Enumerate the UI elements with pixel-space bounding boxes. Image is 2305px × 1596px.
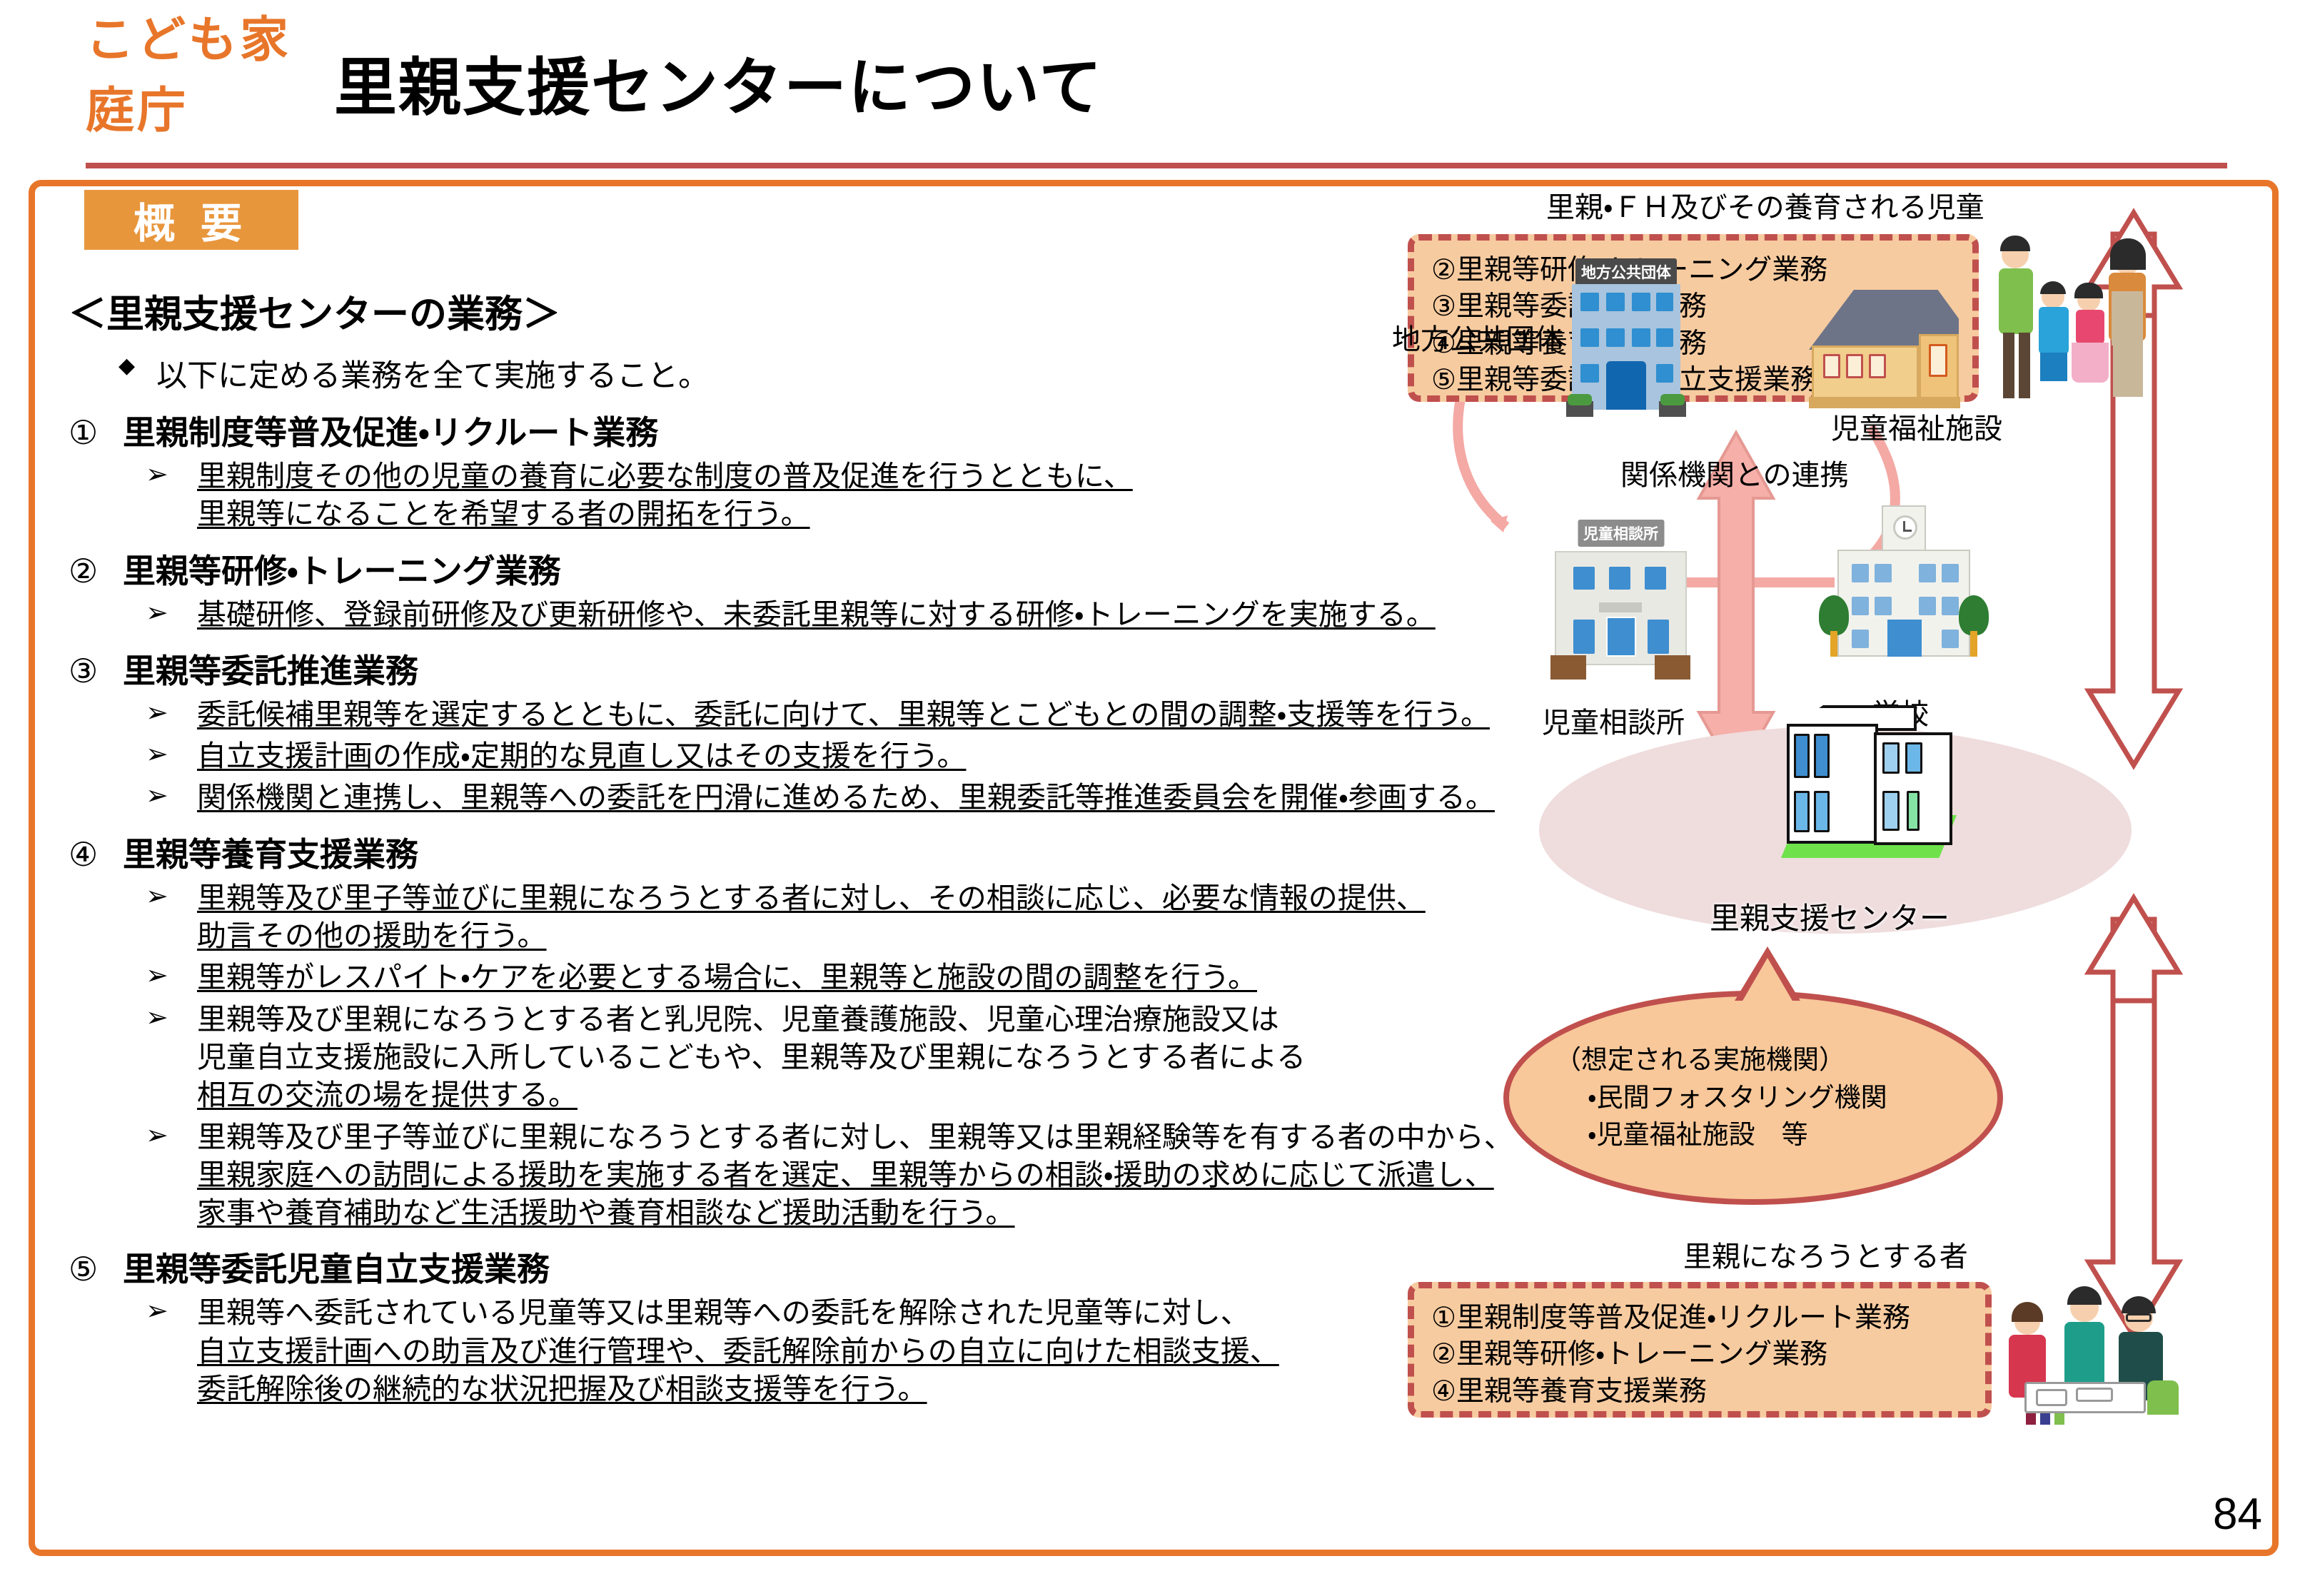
item-heading: ① 里親制度等普及促進・リクルート業務 (69, 407, 1468, 454)
bullet-line: 里親等へ委託されている児童等又は里親等への委託を解除された児童等に対し、 (197, 1296, 1250, 1329)
child-consultation-center-label: 児童相談所 (1542, 699, 1685, 741)
bullet-row: ➢ 里親等及び里子等並びに里親になろうとする者に対し、その相談に応じ、必要な情報… (146, 879, 1468, 956)
list-item: ④ 里親等養育支援業務 ➢ 里親等及び里子等並びに里親になろうとする者に対し、そ… (69, 829, 1468, 1233)
bullet-line: 委託候補里親等を選定するとともに、委託に向けて、里親等とこどもとの間の調整・支援… (197, 698, 1490, 731)
bullet-line: 里親制度その他の児童の養育に必要な制度の普及促進を行うとともに、 (197, 460, 1133, 493)
list-item: ③ 里親等委託推進業務 ➢ 委託候補里親等を選定するとともに、委託に向けて、里親… (69, 645, 1468, 817)
bullet-line: 相互の交流の場を提供する。 (197, 1079, 577, 1111)
child-consult-sign: 児童相談所 (1578, 520, 1664, 547)
arrow-bullet-icon: ➢ (146, 879, 197, 914)
cooperation-label: 関係機関との連携 (1620, 452, 1849, 493)
box-line: ②里親等研修・トレーニング業務 (1431, 1336, 1968, 1373)
box-line: ②里親等研修・トレーニング業務 (1431, 252, 1955, 288)
item-title: 里親等研修・トレーニング業務 (123, 545, 561, 592)
item-heading: ⑤ 里親等委託児童自立支援業務 (69, 1243, 1468, 1291)
item-number: ③ (69, 652, 123, 690)
lead-text: 以下に定める業務を全て実施すること。 (156, 351, 709, 395)
item-heading: ② 里親等研修・トレーニング業務 (69, 545, 1468, 592)
item-bullets: ➢ 里親等へ委託されている児童等又は里親等への委託を解除された児童等に対し、 自… (146, 1294, 1468, 1408)
bullet-line: 里親等がレスパイト・ケアを必要とする場合に、里親等と施設の間の調整を行う。 (197, 961, 1257, 994)
arrow-bullet-icon: ➢ (146, 779, 197, 814)
bullet-line: 自立支援計画の作成・定期的な見直し又はその支援を行う。 (197, 739, 966, 772)
bullet-line: 里親家庭への訪問による援助を実施する者を選定、里親等からの相談・援助の求めに応じ… (197, 1158, 1494, 1191)
item-title: 里親等養育支援業務 (123, 829, 418, 876)
slide-header: こどもまんなか こども家庭庁 里親支援センターについて (0, 0, 2305, 166)
bullet-row: ➢ 里親等へ委託されている児童等又は里親等への委託を解除された児童等に対し、 自… (146, 1294, 1468, 1408)
arrow-bullet-icon: ➢ (146, 696, 197, 731)
bullet-text: 里親等及び里親になろうとする者と乳児院、児童養護施設、児童心理治療施設又は 児童… (197, 1001, 1306, 1115)
implementing-bodies-bubble: （想定される実施機関） ・民間フォスタリング機関 ・児童福祉施設 等 (1503, 991, 2003, 1205)
bullet-text: 里親等及び里子等並びに里親になろうとする者に対し、その相談に応じ、必要な情報の提… (197, 879, 1426, 956)
bullet-row: ➢ 里親等及び里親になろうとする者と乳児院、児童養護施設、児童心理治療施設又は … (146, 1001, 1468, 1115)
bullet-text: 里親等へ委託されている児童等又は里親等への委託を解除された児童等に対し、 自立支… (197, 1294, 1279, 1408)
item-title: 里親制度等普及促進・リクルート業務 (123, 407, 658, 454)
item-heading: ④ 里親等養育支援業務 (69, 829, 1468, 876)
foster-support-center-building (1760, 691, 1974, 891)
child-consultation-center-building: 児童相談所 (1548, 520, 1694, 695)
bullet-line: 児童自立支援施設に入所しているこどもや、里親等及び里親になろうとする者による (197, 1041, 1306, 1074)
page-number: 84 (2213, 1489, 2262, 1540)
item-number: ④ (69, 835, 123, 874)
local-government-building: 地方公共団体 (1562, 260, 1690, 424)
overview-tag: 概 要 (84, 190, 298, 250)
arrow-bullet-icon: ➢ (146, 737, 197, 772)
item-heading: ③ 里親等委託推進業務 (69, 645, 1468, 692)
bubble-tail-inner (1742, 958, 1793, 1002)
bullet-row: ➢ 里親等がレスパイト・ケアを必要とする場合に、里親等と施設の間の調整を行う。 (146, 959, 1468, 996)
list-item: ⑤ 里親等委託児童自立支援業務 ➢ 里親等へ委託されている児童等又は里親等への委… (69, 1243, 1468, 1408)
bullet-row: ➢ 委託候補里親等を選定するとともに、委託に向けて、里親等とこどもとの間の調整・… (146, 696, 1468, 734)
school-building (1819, 505, 1990, 684)
arrow-bottombox-to-center (2089, 898, 2179, 1001)
bullet-text: 里親等及び里子等並びに里親になろうとする者に対し、里親等又は里親経験等を有する者… (197, 1118, 1513, 1233)
slide-page: こどもまんなか こども家庭庁 里親支援センターについて 概 要 ＜里親支援センタ… (0, 0, 2305, 1596)
bullet-row: ➢ 里親等及び里子等並びに里親になろうとする者に対し、里親等又は里親経験等を有す… (146, 1118, 1468, 1233)
item-number: ② (69, 552, 123, 590)
bullet-text: 関係機関と連携し、里親等への委託を円滑に進めるため、里親委託等推進委員会を開催・… (197, 779, 1495, 817)
item-bullets: ➢ 委託候補里親等を選定するとともに、委託に向けて、里親等とこどもとの間の調整・… (146, 696, 1468, 817)
bullet-line: 助言その他の援助を行う。 (197, 919, 547, 952)
item-number: ⑤ (69, 1250, 123, 1288)
arrow-bullet-icon: ➢ (146, 959, 197, 994)
bullet-line: 里親等及び里親になろうとする者と乳児院、児童養護施設、児童心理治療施設又は (197, 1003, 1279, 1036)
bubble-line: （想定される実施機関） (1555, 1041, 1845, 1079)
bullet-text: 里親等がレスパイト・ケアを必要とする場合に、里親等と施設の間の調整を行う。 (197, 959, 1257, 996)
box-line: ①里親制度等普及促進・リクルート業務 (1431, 1300, 1968, 1336)
logo-wordmark: こども家庭庁 (86, 0, 321, 141)
top-caption: 里親・ＦＨ及びその養育される児童 (1546, 184, 1984, 226)
list-item: ① 里親制度等普及促進・リクルート業務 ➢ 里親制度その他の児童の養育に必要な制… (69, 407, 1468, 534)
business-list: ＜里親支援センターの業務＞ ◆ 以下に定める業務を全て実施すること。 ① 里親制… (69, 271, 1468, 1408)
child-welfare-facility-building (1799, 284, 1970, 420)
list-item: ② 里親等研修・トレーニング業務 ➢ 基礎研修、登録前研修及び更新研修や、未委託… (69, 545, 1468, 634)
lead-line: ◆ 以下に定める業務を全て実施すること。 (118, 351, 1468, 395)
bullet-text: 里親制度その他の児童の養育に必要な制度の普及促進を行うとともに、 里親等になるこ… (197, 458, 1133, 534)
box-line: ④里親等養育支援業務 (1431, 1373, 1968, 1410)
bullet-row: ➢ 関係機関と連携し、里親等への委託を円滑に進めるため、里親委託等推進委員会を開… (146, 779, 1468, 817)
bottom-services-box: ①里親制度等普及促進・リクルート業務 ②里親等研修・トレーニング業務 ④里親等養… (1408, 1282, 1992, 1418)
bullet-line: 関係機関と連携し、里親等への委託を円滑に進めるため、里親委託等推進委員会を開催・… (197, 781, 1495, 814)
section-title: ＜里親支援センターの業務＞ (69, 284, 1468, 338)
child-welfare-facility-label: 児童福祉施設 (1831, 405, 2002, 447)
arrow-bullet-icon: ➢ (146, 1294, 197, 1329)
bullet-line: 里親等及び里子等並びに里親になろうとする者に対し、その相談に応じ、必要な情報の提… (197, 882, 1426, 914)
bubble-line: ・児童福祉施設 等 (1588, 1116, 1808, 1154)
item-bullets: ➢ 基礎研修、登録前研修及び更新研修や、未委託里親等に対する研修・トレーニングを… (146, 596, 1468, 634)
relationship-diagram: 里親・ＦＨ及びその養育される児童 ②里親等研修・トレーニング業務 ③里親等委託推… (1399, 191, 2277, 1547)
bullet-line: 家事や養育補助など生活援助や養育相談など援助活動を行う。 (197, 1196, 1015, 1229)
item-bullets: ➢ 里親等及び里子等並びに里親になろうとする者に対し、その相談に応じ、必要な情報… (146, 879, 1468, 1233)
header-divider (86, 163, 2227, 168)
bullet-line: 委託解除後の継続的な状況把握及び相談支援等を行う。 (197, 1373, 927, 1405)
item-title: 里親等委託児童自立支援業務 (123, 1243, 550, 1291)
bullet-text: 委託候補里親等を選定するとともに、委託に向けて、里親等とこどもとの間の調整・支援… (197, 696, 1490, 734)
arrow-bullet-icon: ➢ (146, 1118, 197, 1153)
bubble-line: ・民間フォスタリング機関 (1588, 1079, 1887, 1117)
bottom-caption: 里親になろうとする者 (1683, 1233, 1968, 1275)
bullet-text: 自立支援計画の作成・定期的な見直し又はその支援を行う。 (197, 737, 966, 775)
bullet-line: 自立支援計画への助言及び進行管理や、委託解除前からの自立に向けた相談支援、 (197, 1335, 1279, 1368)
arrow-bullet-icon: ➢ (146, 458, 197, 493)
arrow-bullet-icon: ➢ (146, 1001, 197, 1036)
foster-family-illustration (1997, 231, 2169, 410)
page-title: 里親支援センターについて (334, 37, 1103, 128)
local-gov-label: 地方公共団体 (1392, 316, 1563, 358)
local-gov-sign: 地方公共団体 (1575, 258, 1677, 286)
bullet-row: ➢ 里親制度その他の児童の養育に必要な制度の普及促進を行うとともに、 里親等にな… (146, 458, 1468, 534)
prospective-foster-parents-illustration (2007, 1282, 2186, 1432)
arrow-bullet-icon: ➢ (146, 596, 197, 631)
bullet-row: ➢ 自立支援計画の作成・定期的な見直し又はその支援を行う。 (146, 737, 1468, 775)
item-bullets: ➢ 里親制度その他の児童の養育に必要な制度の普及促進を行うとともに、 里親等にな… (146, 458, 1468, 534)
center-label: 里親支援センター (1710, 894, 1950, 938)
bullet-line: 基礎研修、登録前研修及び更新研修や、未委託里親等に対する研修・トレーニングを実施… (197, 598, 1436, 631)
bullet-line: 里親等及び里子等並びに里親になろうとする者に対し、里親等又は里親経験等を有する者… (197, 1121, 1513, 1153)
item-title: 里親等委託推進業務 (123, 645, 418, 692)
bullet-text: 基礎研修、登録前研修及び更新研修や、未委託里親等に対する研修・トレーニングを実施… (197, 596, 1436, 634)
bullet-row: ➢ 基礎研修、登録前研修及び更新研修や、未委託里親等に対する研修・トレーニングを… (146, 596, 1468, 634)
diamond-icon: ◆ (118, 351, 135, 381)
bullet-line: 里親等になることを希望する者の開拓を行う。 (197, 498, 810, 530)
item-number: ① (69, 413, 123, 452)
ministry-logo: こどもまんなか こども家庭庁 (86, 34, 321, 141)
